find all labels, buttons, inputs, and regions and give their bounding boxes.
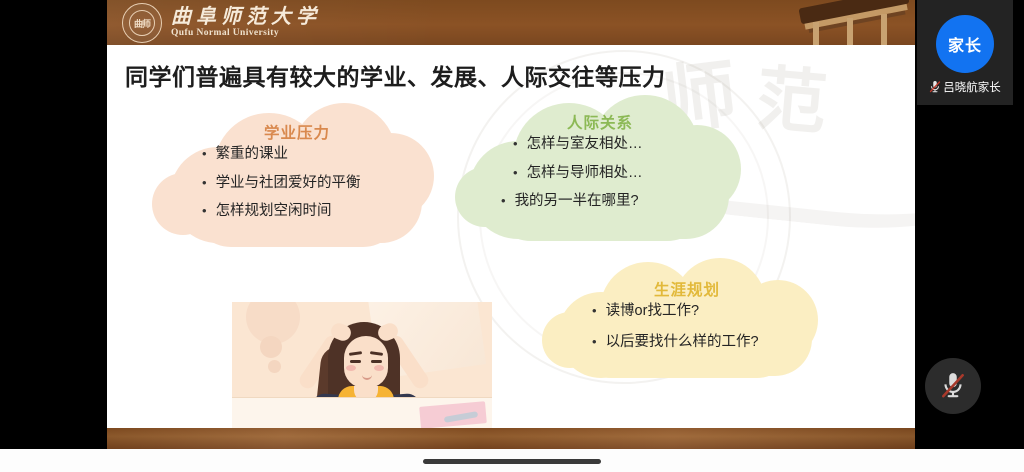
microphone-muted-icon [940, 371, 966, 401]
cloud-career-planning: 生涯规划 •读博or找工作? •以后要找什么样的工作? [542, 258, 832, 383]
bullet-text: 学业与社团爱好的平衡 [216, 176, 361, 191]
bullet-icon: • [202, 204, 207, 217]
home-indicator[interactable] [423, 459, 601, 464]
pavilion-column [813, 22, 819, 45]
bullet-text: 读博or找工作? [606, 304, 699, 319]
list-item: •怎样与室友相处… [513, 137, 643, 152]
university-name-en: Qufu Normal University [171, 29, 321, 39]
participant-tile[interactable]: 家长 吕晓航家长 [917, 0, 1013, 105]
system-navigation-area [0, 449, 1024, 472]
university-name-cn: 曲阜师范大学 [171, 7, 321, 27]
stressed-student-illustration [232, 302, 492, 428]
bullet-text: 我的另一半在哪里? [515, 194, 639, 209]
illustration-cheek [374, 365, 384, 371]
cloud-bullet-list: •读博or找工作? •以后要找什么样的工作? [592, 304, 759, 363]
cloud-academic-pressure: 学业压力 •繁重的课业 •学业与社团爱好的平衡 •怎样规划空闲时间 [152, 103, 442, 250]
participant-name: 吕晓航家长 [943, 79, 1001, 95]
cloud-title: 生涯规划 [542, 278, 832, 300]
list-item: •怎样与导师相处… [513, 166, 643, 181]
cloud-title: 学业压力 [152, 121, 442, 143]
bullet-text: 繁重的课业 [216, 147, 289, 162]
list-item: •繁重的课业 [202, 147, 361, 162]
illustration-eye [350, 360, 361, 363]
pavilion-column [847, 18, 853, 45]
microphone-muted-icon [929, 80, 941, 94]
cloud-content: 人际关系 •怎样与室友相处… •怎样与导师相处… •我的另一半在哪里? [455, 95, 745, 245]
pavilion-column [881, 14, 887, 45]
bullet-icon: • [592, 304, 597, 317]
bullet-icon: • [592, 335, 597, 348]
microphone-toggle-button[interactable] [925, 358, 981, 414]
list-item: •以后要找什么样的工作? [592, 335, 759, 350]
avatar: 家长 [936, 15, 994, 73]
list-item: •怎样规划空闲时间 [202, 204, 361, 219]
bullet-text: 怎样与室友相处… [527, 137, 643, 152]
pavilion-photo [795, 0, 915, 45]
bullet-icon: • [202, 147, 207, 160]
illustration-cheek [346, 365, 356, 371]
illustration-decor-blob [260, 336, 282, 358]
cloud-title: 人际关系 [455, 111, 745, 133]
cloud-content: 生涯规划 •读博or找工作? •以后要找什么样的工作? [542, 258, 832, 383]
cloud-bullet-list: •繁重的课业 •学业与社团爱好的平衡 •怎样规划空闲时间 [202, 147, 361, 233]
list-item: •读博or找工作? [592, 304, 759, 319]
university-logo: 曲师 曲阜师范大学 Qufu Normal University [122, 3, 321, 43]
bullet-icon: • [501, 194, 506, 207]
illustration-decor-blob [268, 360, 281, 373]
list-item: •学业与社团爱好的平衡 [202, 176, 361, 191]
bullet-text: 以后要找什么样的工作? [606, 335, 759, 350]
bullet-text: 怎样与导师相处… [527, 166, 643, 181]
video-call-stage: 师 范 曲师 曲阜师范大学 Qufu Normal University [0, 0, 1024, 472]
list-item: •我的另一半在哪里? [501, 194, 643, 209]
cloud-content: 学业压力 •繁重的课业 •学业与社团爱好的平衡 •怎样规划空闲时间 [152, 103, 442, 250]
crest-inner-mark: 曲师 [129, 10, 155, 36]
illustration-eye [371, 360, 382, 363]
bullet-icon: • [513, 166, 518, 179]
participant-name-row: 吕晓航家长 [929, 79, 1001, 95]
shared-slide[interactable]: 师 范 曲师 曲阜师范大学 Qufu Normal University [107, 0, 915, 449]
pavilion-roof [798, 0, 909, 24]
bullet-icon: • [202, 176, 207, 189]
slide-footer-band [107, 428, 915, 449]
slide-header-band: 曲师 曲阜师范大学 Qufu Normal University [107, 0, 915, 45]
slide-title: 同学们普遍具有较大的学业、发展、人际交往等压力 [125, 58, 825, 92]
bullet-text: 怎样规划空闲时间 [216, 204, 332, 219]
bullet-icon: • [513, 137, 518, 150]
cloud-bullet-list: •怎样与室友相处… •怎样与导师相处… •我的另一半在哪里? [513, 137, 643, 223]
cloud-interpersonal-relations: 人际关系 •怎样与室友相处… •怎样与导师相处… •我的另一半在哪里? [455, 95, 745, 245]
university-crest-icon: 曲师 [122, 3, 162, 43]
